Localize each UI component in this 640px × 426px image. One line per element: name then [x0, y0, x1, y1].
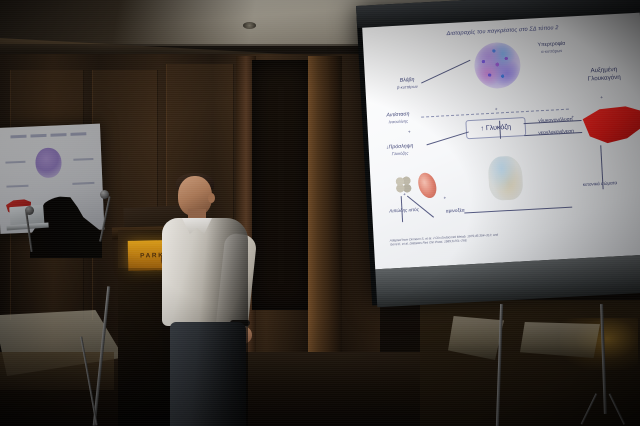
label-glucose-uptake: ↓Πρόσληψη Γλυκόζης [373, 142, 428, 157]
slide-citation: Adapted from Dinneen S, et al. J Clin En… [390, 228, 580, 247]
banquet-table-right [520, 322, 600, 358]
label-alpha-cell-hypertrophy: Υπερτροφία α-κυττάρων [523, 40, 580, 55]
pancreatic-islet-illustration [473, 41, 521, 89]
presentation-slide: Διαταραχές του παγκρέατος στο ΣΔ τύπου 2… [362, 13, 640, 270]
projection-screen-main: Διαταραχές του παγκρέατος στο ΣΔ τύπου 2… [356, 0, 640, 306]
plus-sign: + [495, 107, 498, 112]
arrow-amino-to-liver [464, 207, 572, 214]
label-adipose-tissue: Λιπώδης ιστός [382, 207, 426, 215]
arrow-beta-to-islet [421, 60, 470, 84]
plus-sign: + [571, 114, 574, 119]
muscle-illustration [415, 170, 440, 200]
label-ketone-bodies: κετονικά σώματα [567, 179, 633, 188]
arrow-uptake-to-glucose [427, 131, 469, 145]
conference-photo-stage: Διαταραχές του παγκρέατος στο ΣΔ τύπου 2… [0, 0, 640, 426]
plus-sign: + [403, 192, 406, 197]
dark-doorway [252, 60, 310, 310]
label-insulin-resistance: Αντίσταση Ινσουλίνης [373, 111, 424, 125]
plus-sign: + [600, 95, 603, 100]
islet-cell-dots [473, 41, 521, 89]
microphone-head [100, 190, 109, 199]
wall-pillar [308, 56, 342, 356]
speaker-ear [208, 193, 215, 203]
gut-illustration [487, 155, 523, 201]
glucose-box: ↑ Γλυκόζη [465, 117, 526, 139]
plus-sign: + [443, 195, 446, 200]
label-increased-glucagon: Αυξημένη Γλουκαγόνη [571, 65, 638, 84]
speaker-person [166, 176, 258, 426]
screen-surface: Διαταραχές του παγκρέατος στο ΣΔ τύπου 2… [362, 13, 640, 270]
microphone-head [25, 206, 34, 215]
label-beta-cell-damage: Βλάβη β-κυττάρων [383, 76, 432, 90]
plus-sign: + [408, 129, 411, 134]
ceiling-downlight [243, 22, 256, 29]
liver-illustration [581, 105, 640, 146]
slide-title: Διαταραχές του παγκρέατος στο ΣΔ τύπου 2 [393, 22, 613, 41]
speaker-shading [162, 218, 248, 426]
